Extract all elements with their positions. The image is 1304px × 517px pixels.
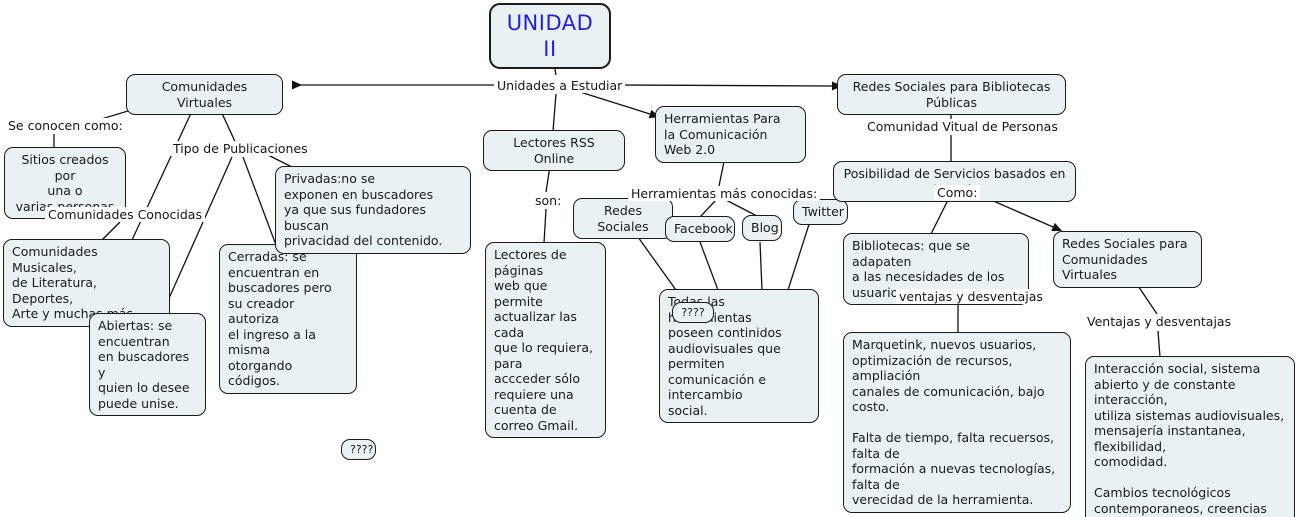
- node-blog[interactable]: Blog: [742, 215, 782, 241]
- link-label-tipo-de-publicaciones: Tipo de Publicaciones: [170, 141, 311, 156]
- node-unknown-overlay[interactable]: ????: [672, 302, 714, 323]
- node-redes-sociales-comunidades[interactable]: Redes Sociales para Comunidades Virtuale…: [1053, 231, 1202, 288]
- link-label-unidades-a-estudiar: Unidades a Estudiar: [494, 78, 625, 93]
- node-twitter[interactable]: Twitter: [793, 199, 848, 225]
- node-facebook[interactable]: Facebook: [665, 216, 735, 242]
- node-redes-sociales-bibliotecas[interactable]: Redes Sociales para Bibliotecas Públicas: [837, 74, 1066, 115]
- node-marquetink-ventajas[interactable]: Marquetink, nuevos usuarios, optimizació…: [843, 332, 1071, 513]
- node-comunidades-virtuales[interactable]: Comunidades Virtuales: [126, 74, 283, 115]
- node-unknown-bottom[interactable]: ????: [341, 439, 376, 460]
- node-privadas[interactable]: Privadas:no se exponen en buscadores ya …: [275, 166, 471, 254]
- link-label-son: son:: [532, 193, 564, 208]
- link-label-ventajas-y-desventajas-lower: ventajas y desventajas: [896, 289, 1046, 304]
- link-label-ventajas-y-desventajas-upper: Ventajas y desventajas: [1084, 314, 1234, 329]
- node-redes-sociales[interactable]: Redes Sociales: [573, 198, 673, 239]
- node-lectores-rss-online[interactable]: Lectores RSS Online: [483, 130, 625, 171]
- link-label-como: Como:: [934, 185, 980, 200]
- node-abiertas[interactable]: Abiertas: se encuentran en buscadores y …: [89, 313, 206, 416]
- concept-map-canvas: UNIDAD II Comunidades Virtuales Sitios c…: [0, 0, 1304, 517]
- node-herramientas-web-20[interactable]: Herramientas Para la Comunicación Web 2.…: [655, 106, 806, 163]
- link-label-herramientas-mas-conocidas: Herramientas más conocidas:: [628, 186, 820, 201]
- link-label-se-conocen-como: Se conocen como:: [5, 118, 126, 133]
- link-label-comunidad-vitual-de-personas: Comunidad Vitual de Personas: [864, 119, 1061, 134]
- node-interaccion-social[interactable]: Interacción social, sistema abierto y de…: [1085, 356, 1295, 517]
- link-label-comunidades-conocidas: Comunidades Conocidas: [45, 207, 205, 222]
- node-cerradas[interactable]: Cerradas: se encuentran en buscadores pe…: [219, 244, 357, 394]
- node-lectores-paginas-web[interactable]: Lectores de páginas web que permite actu…: [485, 242, 606, 438]
- node-title[interactable]: UNIDAD II: [489, 3, 611, 69]
